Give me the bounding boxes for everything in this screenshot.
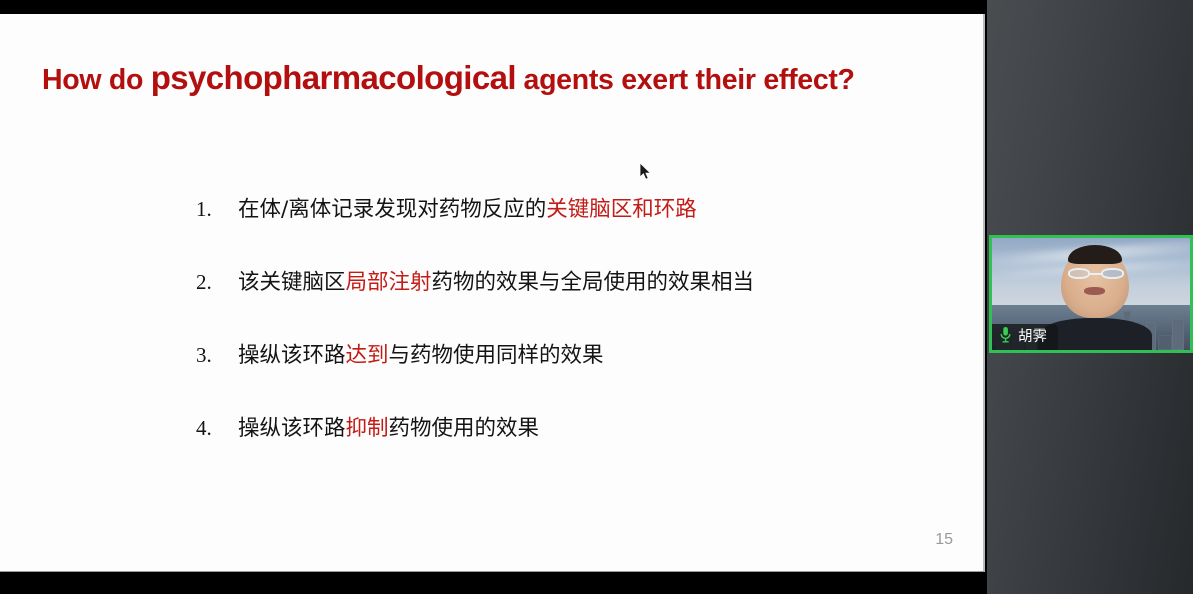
list-item-text: 操纵该环路达到与药物使用同样的效果 [238,338,604,369]
list-item-number: 1. [196,197,238,222]
text-segment: 该关键脑区 [238,270,346,295]
screen-share-window: How do psychopharmacological agents exer… [0,0,1193,594]
shared-screen-region: How do psychopharmacological agents exer… [0,0,987,594]
text-segment: 操纵该环路 [238,416,346,441]
text-segment: 在体/离体记录发现对药物反应的 [238,197,546,222]
list-item-text: 该关键脑区局部注射药物的效果与全局使用的效果相当 [238,265,754,296]
presentation-slide[interactable]: How do psychopharmacological agents exer… [0,14,985,572]
list-item: 2. 该关键脑区局部注射药物的效果与全局使用的效果相当 [196,265,956,296]
list-item: 4. 操纵该环路抑制药物使用的效果 [196,411,956,442]
text-segment-highlight: 局部注射 [346,270,432,295]
text-segment: 与药物使用同样的效果 [389,343,604,368]
text-segment-highlight: 抑制 [346,416,389,441]
list-item-number: 2. [196,270,238,295]
participant-video-tile[interactable]: 胡霁 [989,235,1193,353]
text-segment: 操纵该环路 [238,343,346,368]
avatar-hair [1068,245,1123,264]
list-item: 3. 操纵该环路达到与药物使用同样的效果 [196,338,956,369]
text-segment-highlight: 达到 [346,343,389,368]
slide-page-number: 15 [935,531,953,549]
slide-title-tail: agents exert their effect? [516,64,855,96]
slide-bullet-list: 1. 在体/离体记录发现对药物反应的关键脑区和环路 2. 该关键脑区局部注射药物… [196,192,956,484]
list-item-number: 3. [196,343,238,368]
avatar-mouth [1084,287,1105,295]
microphone-icon[interactable] [999,326,1012,348]
list-item-number: 4. [196,416,238,441]
avatar-glasses [1068,268,1124,279]
list-item: 1. 在体/离体记录发现对药物反应的关键脑区和环路 [196,192,956,223]
list-item-text: 操纵该环路抑制药物使用的效果 [238,411,539,442]
participant-name: 胡霁 [1018,330,1047,345]
avatar-head [1061,247,1129,319]
slide-title-emphasis: psychopharmacological [151,59,516,96]
participant-avatar-image [1047,245,1142,350]
slide-title-lead: How do [42,64,151,96]
participant-name-chip: 胡霁 [992,324,1058,350]
text-segment: 药物的效果与全局使用的效果相当 [432,270,755,295]
slide-title: How do psychopharmacological agents exer… [42,59,942,97]
text-segment-highlight: 关键脑区和环路 [546,197,697,222]
text-segment: 药物使用的效果 [389,416,540,441]
list-item-text: 在体/离体记录发现对药物反应的关键脑区和环路 [238,192,697,223]
